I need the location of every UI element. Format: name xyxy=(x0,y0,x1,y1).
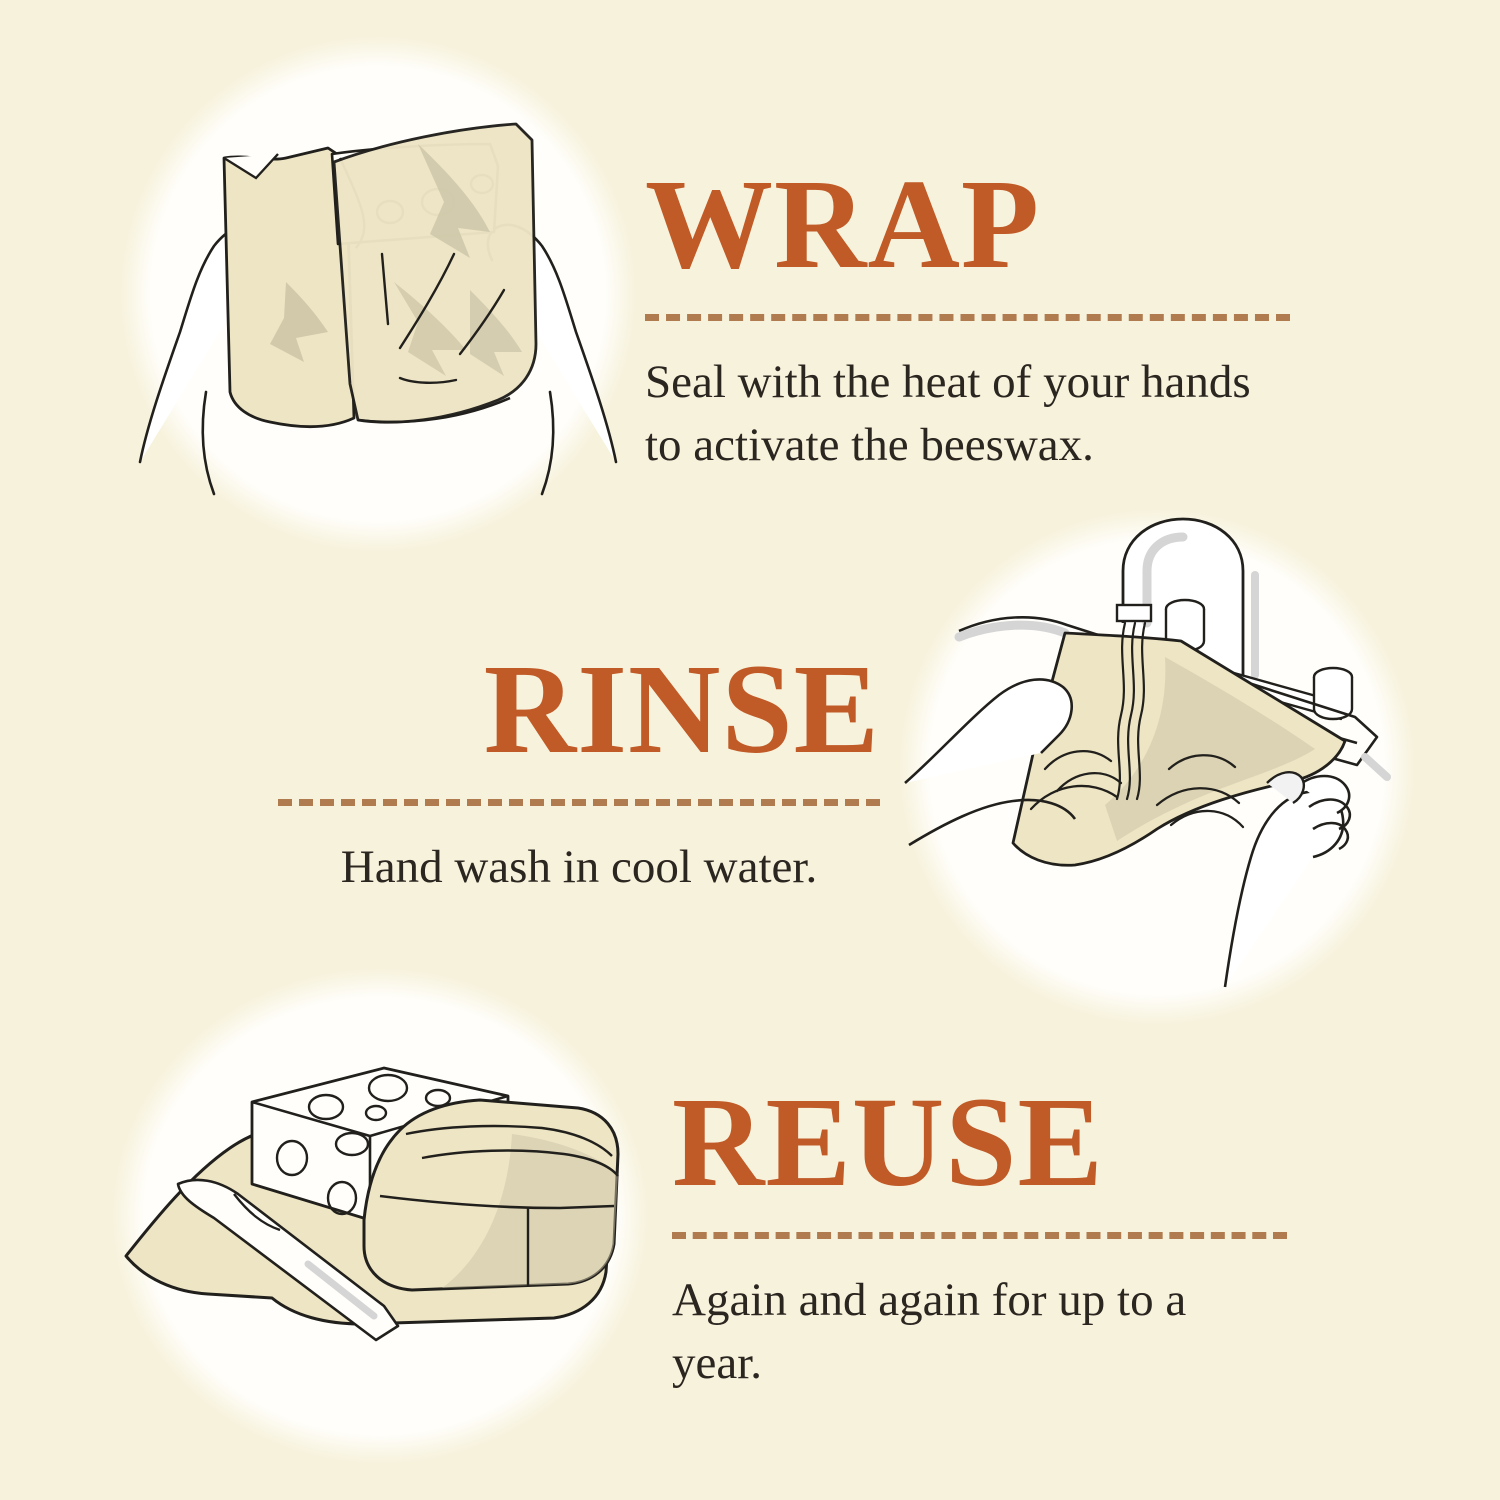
wrap-body-text: Seal with the heat of your hands to acti… xyxy=(645,351,1290,476)
hands-rinsing-wrap-under-faucet-illustration xyxy=(895,505,1415,1025)
rinse-divider xyxy=(278,799,880,806)
rinse-headline: RINSE xyxy=(278,645,880,773)
reuse-headline: REUSE xyxy=(672,1078,1287,1206)
reuse-illustration xyxy=(112,968,652,1468)
wrap-text-block: WRAP Seal with the heat of your hands to… xyxy=(645,160,1290,476)
faucet-knob-right xyxy=(1314,668,1352,719)
reuse-divider xyxy=(672,1232,1287,1239)
infographic-canvas: WRAP Seal with the heat of your hands to… xyxy=(0,0,1500,1500)
rinse-text-block: RINSE Hand wash in cool water. xyxy=(278,645,880,899)
wrapped-cheese-block-with-knife-illustration xyxy=(112,968,652,1468)
wrap-headline: WRAP xyxy=(645,160,1290,288)
reuse-body-text: Again and again for up to a year. xyxy=(672,1269,1287,1394)
rinse-body-text: Hand wash in cool water. xyxy=(278,836,880,899)
wrap-illustration xyxy=(118,32,638,552)
rinse-illustration xyxy=(895,505,1415,1025)
wrap-divider xyxy=(645,314,1290,321)
hands-wrapping-cheese-illustration xyxy=(118,32,638,552)
reuse-text-block: REUSE Again and again for up to a year. xyxy=(672,1078,1287,1394)
